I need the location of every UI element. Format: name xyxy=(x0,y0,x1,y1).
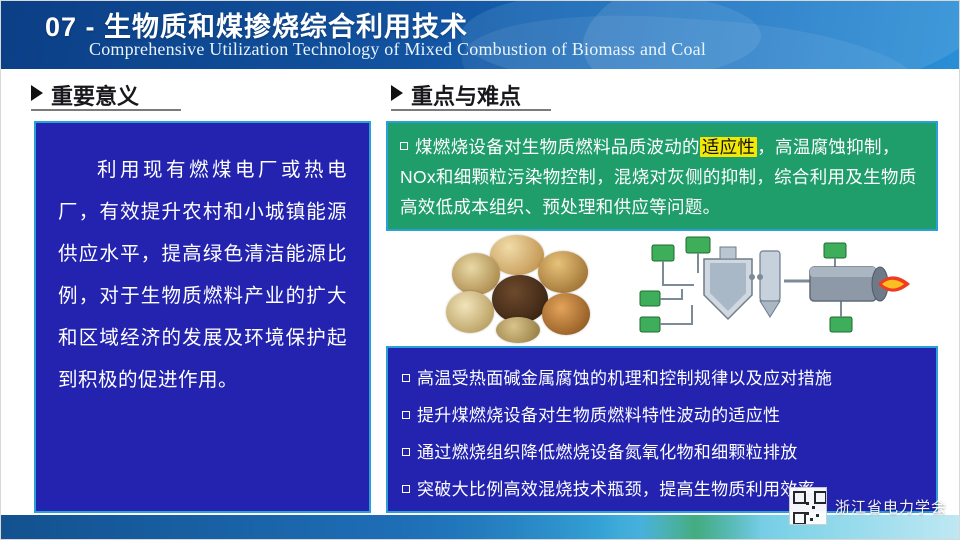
boiler-highlight xyxy=(810,267,876,277)
footer-accent-green xyxy=(641,515,761,539)
section-heading-underline-right xyxy=(391,109,551,111)
section-heading-key-points: 重点与难点 xyxy=(391,79,521,111)
watermark-label: 浙江省电力学会 xyxy=(835,496,947,517)
square-bullet-icon xyxy=(402,485,410,493)
section-heading-underline-left xyxy=(31,109,181,111)
page-subtitle: Comprehensive Utilization Technology of … xyxy=(89,39,706,60)
triangle-bullet-icon xyxy=(31,85,43,101)
tank-icon xyxy=(824,243,846,258)
tank-icon xyxy=(640,317,660,332)
section-heading-significance-label: 重要意义 xyxy=(51,84,139,109)
list-item: 提升煤燃烧设备对生物质燃料特性波动的适应性 xyxy=(402,397,926,434)
list-item: 通过燃烧组织降低燃烧设备氮氧化物和细颗粒排放 xyxy=(402,434,926,471)
footer-accent-left xyxy=(1,515,621,539)
triangle-bullet-icon xyxy=(391,85,403,101)
list-item: 高温受热面碱金属腐蚀的机理和控制规律以及应对措施 xyxy=(402,360,926,397)
grain-sample-icon xyxy=(496,317,540,343)
slide-canvas: 07 - 生物质和煤掺烧综合利用技术 Comprehensive Utiliza… xyxy=(0,0,960,540)
pipe-line xyxy=(660,289,682,299)
reactor-top-icon xyxy=(720,247,736,259)
list-item-label: 突破大比例高效混烧技术瓶颈，提高生物质利用效率 xyxy=(417,480,815,499)
section-heading-significance: 重要意义 xyxy=(31,79,139,111)
biomass-samples-photo xyxy=(446,235,598,343)
significance-panel: 利用现有燃煤电厂或热电厂，有效提升农村和小城镇能源供应水平，提高绿色清洁能源比例… xyxy=(34,121,371,513)
list-item-label: 高温受热面碱金属腐蚀的机理和控制规律以及应对措施 xyxy=(417,369,832,388)
square-bullet-icon xyxy=(402,411,410,419)
tank-icon xyxy=(652,245,674,261)
column-icon xyxy=(760,251,780,301)
tank-icon xyxy=(830,317,852,332)
pipe-line xyxy=(660,305,692,324)
square-bullet-icon xyxy=(400,142,408,150)
valve-icon xyxy=(749,274,755,280)
grain-sample-icon xyxy=(446,291,494,333)
list-item-label: 通过燃烧组织降低燃烧设备氮氧化物和细颗粒排放 xyxy=(417,443,798,462)
tank-icon xyxy=(640,291,660,306)
section-heading-key-points-label: 重点与难点 xyxy=(411,84,521,109)
difficulties-highlight: 适应性 xyxy=(700,137,757,157)
grain-sample-icon xyxy=(538,251,588,293)
valve-icon xyxy=(757,274,763,280)
difficulties-panel: 煤燃烧设备对生物质燃料品质波动的适应性，高温腐蚀抑制，NOx和细颗粒污染物控制，… xyxy=(386,121,938,231)
difficulties-text-before: 煤燃烧设备对生物质燃料品质波动的 xyxy=(415,137,700,157)
grain-sample-icon xyxy=(542,293,590,335)
grain-sample-icon xyxy=(492,275,548,323)
significance-paragraph: 利用现有燃煤电厂或热电厂，有效提升农村和小城镇能源供应水平，提高绿色清洁能源比例… xyxy=(58,149,347,401)
difficulties-text: 煤燃烧设备对生物质燃料品质波动的适应性，高温腐蚀抑制，NOx和细颗粒污染物控制，… xyxy=(400,132,926,222)
list-item-label: 提升煤燃烧设备对生物质燃料特性波动的适应性 xyxy=(417,406,780,425)
grain-sample-icon xyxy=(452,253,500,295)
slide-header: 07 - 生物质和煤掺烧综合利用技术 Comprehensive Utiliza… xyxy=(1,1,960,69)
process-diagram xyxy=(634,233,914,345)
column-cone-icon xyxy=(760,301,780,317)
tank-icon xyxy=(686,237,710,253)
watermark-badge: 浙江省电力学会 xyxy=(789,487,947,525)
qr-code-icon xyxy=(789,487,827,525)
illustration-area xyxy=(386,233,938,345)
square-bullet-icon xyxy=(402,448,410,456)
pipe-line xyxy=(663,261,694,285)
square-bullet-icon xyxy=(402,374,410,382)
